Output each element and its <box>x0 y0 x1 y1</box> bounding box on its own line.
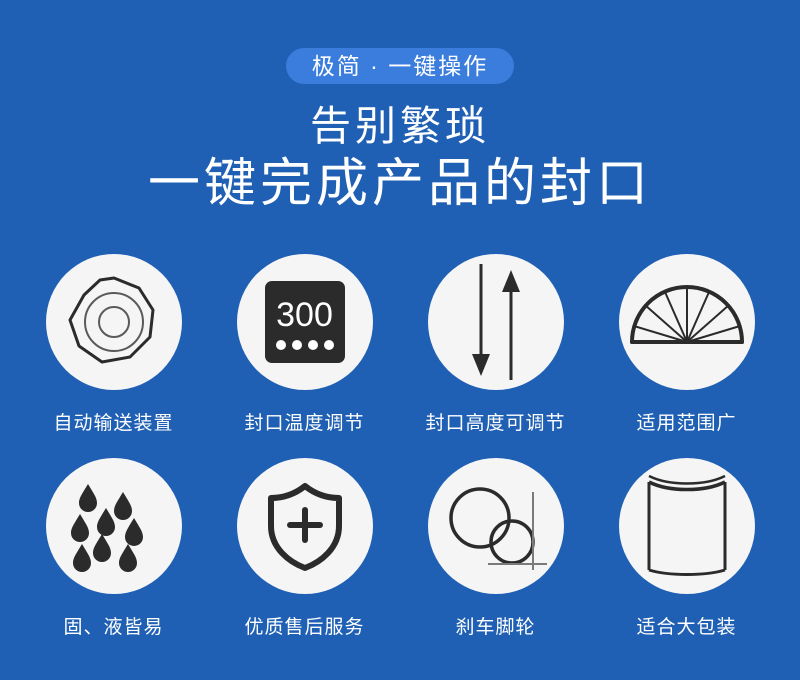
temperature-value: 300 <box>276 296 333 334</box>
feature-item-height[interactable]: 封口高度可调节 <box>400 254 591 436</box>
feature-item-range[interactable]: 适用范围广 <box>591 254 782 436</box>
feature-label: 适合大包装 <box>636 616 736 640</box>
feature-label: 封口温度调节 <box>244 412 364 436</box>
headline-secondary: 一键完成产品的封口 <box>0 154 800 214</box>
feature-icon-bubble <box>428 254 564 390</box>
feature-grid: 自动输送装置 300 封口温度调节 <box>0 254 800 640</box>
feature-label: 自动输送装置 <box>53 412 173 436</box>
indicator-dot <box>292 340 302 350</box>
feature-item-service[interactable]: 优质售后服务 <box>209 458 400 640</box>
indicator-dot <box>276 340 286 350</box>
shield-plus-icon <box>261 480 349 572</box>
temperature-display-icon: 300 <box>265 281 345 363</box>
feature-label: 优质售后服务 <box>244 616 364 640</box>
caster-wheel-icon <box>441 474 551 578</box>
badge-tagline: 极简 · 一键操作 <box>286 48 514 84</box>
feature-item-media[interactable]: 固、液皆易 <box>18 458 209 640</box>
droplets-icon <box>66 476 162 576</box>
feature-label: 固、液皆易 <box>63 616 163 640</box>
feature-item-temperature[interactable]: 300 封口温度调节 <box>209 254 400 436</box>
display-indicator-dots <box>276 340 334 350</box>
feature-icon-bubble: 300 <box>237 254 373 390</box>
feature-item-conveyor[interactable]: 自动输送装置 <box>18 254 209 436</box>
headline-primary: 告别繁琐 <box>0 102 800 150</box>
feature-label: 封口高度可调节 <box>425 412 565 436</box>
feature-icon-bubble <box>237 458 373 594</box>
feature-icon-bubble <box>428 458 564 594</box>
feature-icon-bubble <box>619 254 755 390</box>
package-bag-icon <box>639 472 735 580</box>
up-down-arrows-icon <box>441 260 551 384</box>
indicator-dot <box>308 340 318 350</box>
feature-label: 适用范围广 <box>636 412 736 436</box>
header: 极简 · 一键操作 告别繁琐 一键完成产品的封口 <box>0 0 800 214</box>
indicator-dot <box>324 340 334 350</box>
feature-icon-bubble <box>46 254 182 390</box>
feature-icon-bubble <box>46 458 182 594</box>
feature-item-caster[interactable]: 刹车脚轮 <box>400 458 591 640</box>
feature-item-package[interactable]: 适合大包装 <box>591 458 782 640</box>
fan-range-icon <box>629 264 745 380</box>
feature-icon-bubble <box>619 458 755 594</box>
feature-label: 刹车脚轮 <box>455 616 535 640</box>
conveyor-roller-icon <box>62 270 166 374</box>
